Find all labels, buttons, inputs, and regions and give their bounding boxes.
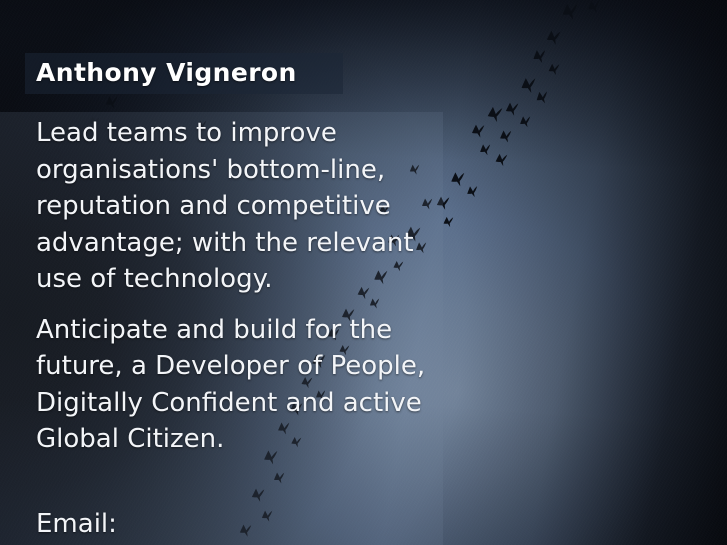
bird-icon bbox=[442, 215, 456, 228]
bird-icon bbox=[504, 101, 521, 118]
bird-icon bbox=[586, 0, 603, 15]
bird-icon bbox=[449, 170, 468, 188]
bird-icon bbox=[486, 105, 505, 124]
bird-icon bbox=[519, 75, 539, 95]
paragraph-mission: Lead teams to improve organisations' bot… bbox=[36, 115, 442, 298]
bird-icon bbox=[518, 114, 533, 129]
presentation-slide: Anthony Vigneron Lead teams to improve o… bbox=[0, 0, 727, 545]
bird-icon bbox=[560, 1, 581, 22]
page-title: Anthony Vigneron bbox=[36, 58, 366, 87]
bird-icon bbox=[498, 128, 514, 144]
bird-icon bbox=[470, 122, 487, 139]
paragraph-email-label: Email: bbox=[36, 506, 442, 543]
bird-icon bbox=[531, 47, 549, 65]
bird-icon bbox=[465, 184, 480, 199]
paragraph-vision: Anticipate and build for the future, a D… bbox=[36, 312, 442, 458]
bird-icon bbox=[478, 142, 493, 157]
bird-icon bbox=[534, 89, 551, 106]
bird-icon bbox=[545, 29, 563, 47]
paragraph-spacer bbox=[36, 472, 442, 492]
bird-icon bbox=[547, 62, 562, 77]
content-body: Lead teams to improve organisations' bot… bbox=[36, 115, 442, 542]
bird-icon bbox=[494, 152, 510, 168]
bird-icon bbox=[104, 94, 120, 110]
